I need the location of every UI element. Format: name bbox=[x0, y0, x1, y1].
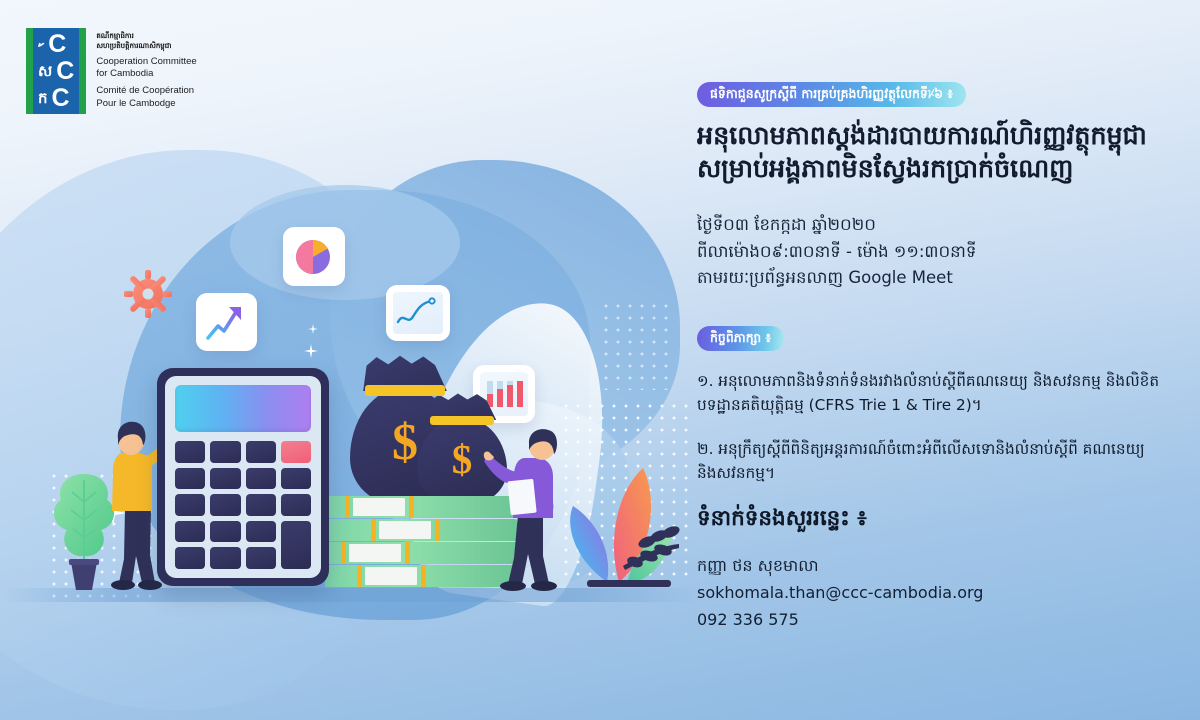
agenda-item: ២. អនុក្រឹត្យស្ដីពីពិនិត្យអន្តរការណ៍ចំពោ… bbox=[697, 437, 1167, 486]
logo-row: ކ C bbox=[38, 32, 73, 56]
session-badge: ផទិកាជួនសូក្រស្ដីពី ការគ្រប់គ្រងហិរញ្ញវត… bbox=[697, 82, 966, 107]
title-line-2: សម្រាប់អង្គភាពមិនស្វែងរកប្រាក់ចំណេញ bbox=[697, 154, 1073, 184]
decorative-leaves bbox=[555, 462, 705, 597]
contact-phone[interactable]: 092 336 575 bbox=[697, 607, 1167, 634]
calculator-key bbox=[210, 521, 240, 543]
calculator-key bbox=[175, 494, 205, 516]
logo-letter-c: C bbox=[52, 86, 69, 111]
background-blob-ellipse bbox=[230, 185, 460, 300]
event-meta: ថ្ងៃទី០៣ ខែកក្កដា ឆ្នាំ២០២០ ពីលាម៉ោង០៩:៣… bbox=[697, 212, 1167, 292]
logo-blue-box: ކ C ស C ក C bbox=[33, 28, 79, 114]
poster-canvas: ކ C ស C ក C គណីកម្មាធិការ សហប្រតិបត្តិកា… bbox=[0, 0, 1200, 720]
dot-texture-upper bbox=[600, 300, 670, 390]
calculator-key bbox=[246, 547, 276, 569]
calculator-key bbox=[246, 521, 276, 543]
calculator-key bbox=[281, 494, 311, 516]
event-platform: តាមរយៈប្រព័ន្ធអនលាញ Google Meet bbox=[697, 265, 1167, 292]
logo-row: ក C bbox=[38, 86, 73, 110]
event-time: ពីលាម៉ោង០៩:៣០នាទី - ម៉ោង ១១:៣០នាទី bbox=[697, 239, 1167, 266]
logo-khmer-name-line2: សហប្រតិបត្តិការណាសិកម្ពុជា bbox=[96, 42, 196, 51]
trend-up-icon bbox=[201, 298, 249, 346]
money-bag-tie bbox=[365, 385, 444, 396]
pie-chart-icon bbox=[291, 235, 335, 279]
calculator-key bbox=[210, 494, 240, 516]
calculator-key bbox=[210, 468, 240, 490]
title-line-1: អនុលោមភាពស្ដង់ដារបាយការណ៍ហិរញ្ញវត្ថុកម្ព… bbox=[697, 121, 1147, 151]
calculator-key-clear bbox=[281, 441, 311, 463]
sparkle-icon bbox=[308, 324, 318, 334]
logo-khmer-name-line1: គណីកម្មាធិការ bbox=[96, 32, 196, 41]
logo-english-line2: for Cambodia bbox=[96, 68, 196, 80]
calculator-key bbox=[210, 547, 240, 569]
agenda-badge: កិច្ចពិភាក្សា ៖ bbox=[697, 326, 784, 351]
contact-name: កញ្ញា ថន សុខមាលា bbox=[697, 553, 1167, 580]
sparkle-icon bbox=[304, 344, 318, 358]
logo-green-bar-right bbox=[79, 28, 86, 114]
line-chart-icon bbox=[393, 292, 443, 334]
calculator-key bbox=[246, 441, 276, 463]
calculator-key bbox=[281, 468, 311, 490]
agenda-list: ១. អនុលោមភាពនិងទំនាក់ទំនងរវាងលំនាប់ស្ដីព… bbox=[697, 369, 1167, 486]
contact-heading: ទំនាក់ទំនងសួររន្ទេះ ៖ bbox=[697, 505, 1167, 536]
gear-icon bbox=[124, 270, 172, 318]
logo-french-line2: Pour le Cambodge bbox=[96, 98, 196, 110]
calculator-key-equals bbox=[281, 521, 311, 569]
pie-chart-card bbox=[283, 227, 345, 286]
calculator-keypad bbox=[175, 441, 311, 569]
logo-row: ស C bbox=[38, 59, 73, 83]
content-column: ផទិកាជួនសូក្រស្ដីពី ការគ្រប់គ្រងហិរញ្ញវត… bbox=[697, 82, 1167, 633]
calculator-key bbox=[210, 441, 240, 463]
event-date: ថ្ងៃទី០៣ ខែកក្កដា ឆ្នាំ២០២០ bbox=[697, 212, 1167, 239]
dollar-symbol: $ bbox=[417, 435, 507, 483]
calculator bbox=[157, 368, 329, 586]
logo-green-bar-left bbox=[26, 28, 33, 114]
contact-email[interactable]: sokhomala.than@ccc-cambodia.org bbox=[697, 580, 1167, 607]
logo-letter-c: C bbox=[48, 32, 65, 57]
calculator-key bbox=[175, 441, 205, 463]
logo-khmer-glyph: ކ bbox=[38, 37, 44, 52]
calculator-key bbox=[246, 468, 276, 490]
contact-details: កញ្ញា ថន សុខមាលា sokhomala.than@ccc-camb… bbox=[697, 553, 1167, 634]
calculator-key bbox=[175, 547, 205, 569]
logo-letter-c: C bbox=[56, 59, 73, 84]
calculator-key bbox=[246, 494, 276, 516]
calculator-screen bbox=[175, 385, 311, 432]
logo-khmer-glyph: ក bbox=[38, 91, 48, 106]
logo-english-line1: Cooperation Committee bbox=[96, 56, 196, 68]
ccc-logo: ކ C ស C ក C គណីកម្មាធិការ សហប្រតិបត្តិកា… bbox=[26, 28, 197, 114]
logo-french-line1: Comité de Coopération bbox=[96, 85, 196, 97]
line-chart-card bbox=[386, 285, 450, 341]
logo-wordmark: គណីកម្មាធិការ សហប្រតិបត្តិការណាសិកម្ពុជា… bbox=[86, 28, 196, 114]
agenda-item: ១. អនុលោមភាពនិងទំនាក់ទំនងរវាងលំនាប់ស្ដីព… bbox=[697, 369, 1167, 418]
trend-arrow-card bbox=[196, 293, 257, 351]
calculator-key bbox=[175, 468, 205, 490]
calculator-key bbox=[175, 521, 205, 543]
logo-khmer-glyph: ស bbox=[38, 64, 52, 79]
page-title: អនុលោមភាពស្ដង់ដារបាយការណ៍ហិរញ្ញវត្ថុកម្ព… bbox=[697, 120, 1167, 186]
